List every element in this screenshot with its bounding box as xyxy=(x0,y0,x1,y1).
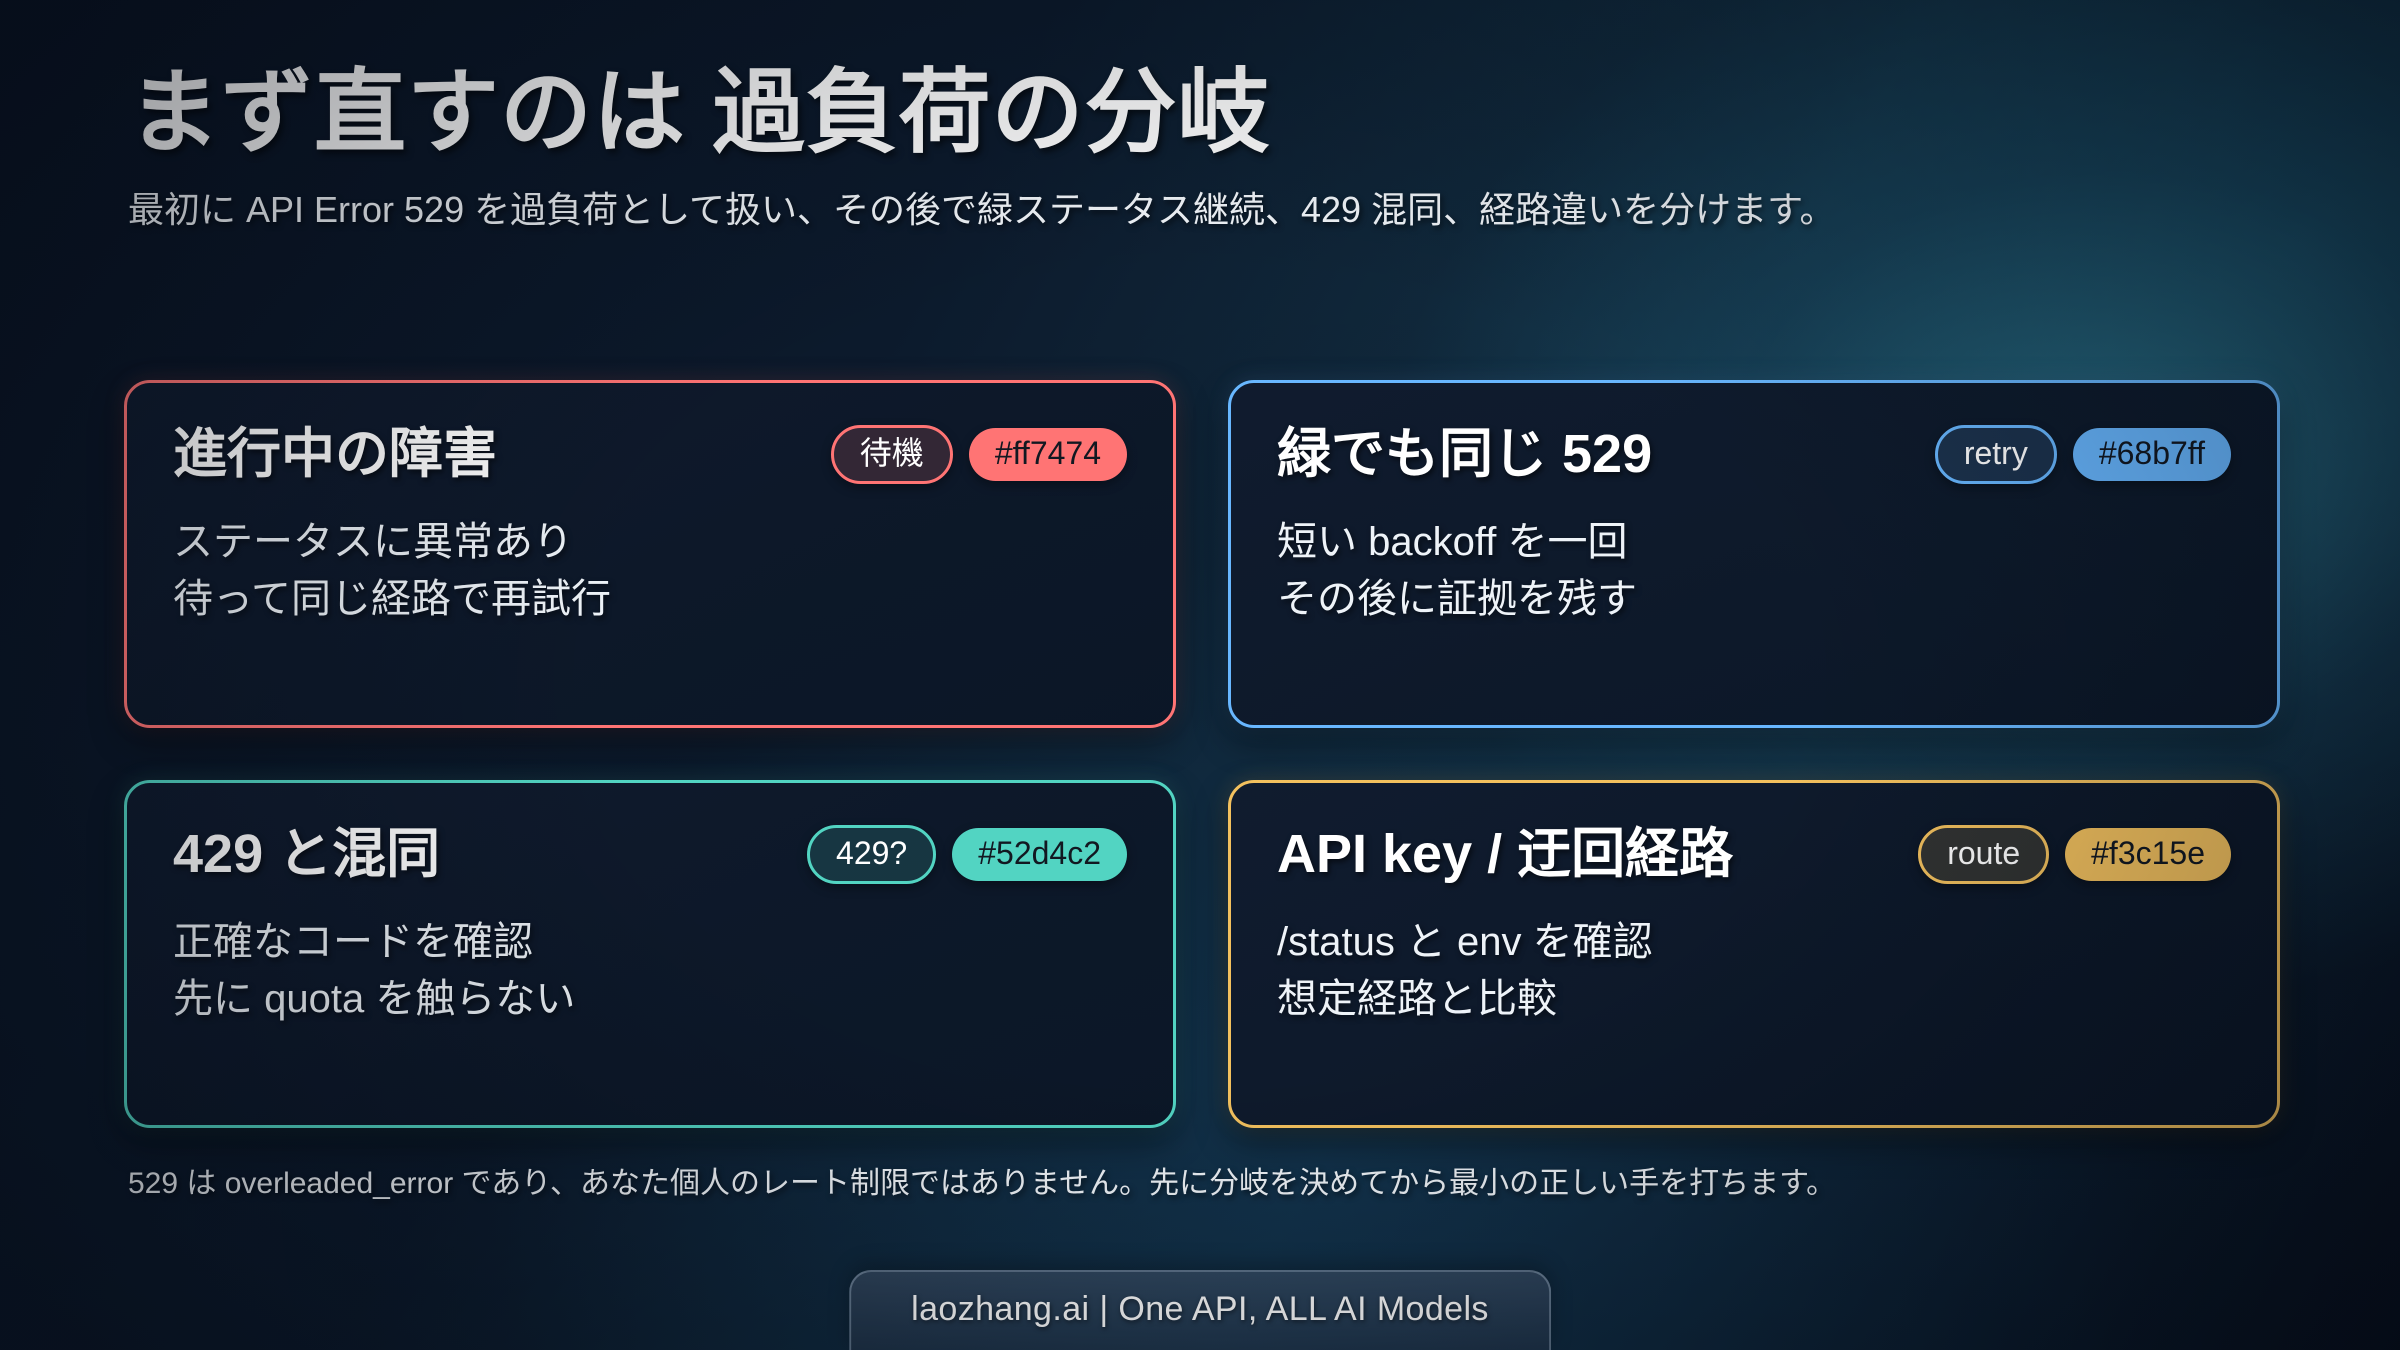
card-grid: 進行中の障害 待機 #ff7474 ステータスに異常あり 待って同じ経路で再試行… xyxy=(124,380,2280,1128)
color-hex-badge[interactable]: #f3c15e xyxy=(2065,828,2231,881)
card-body: ステータスに異常あり 待って同じ経路で再試行 xyxy=(173,514,1127,628)
card-ongoing-incident[interactable]: 進行中の障害 待機 #ff7474 ステータスに異常あり 待って同じ経路で再試行 xyxy=(124,380,1176,728)
status-badge[interactable]: retry xyxy=(1935,425,2057,484)
card-badges: route #f3c15e xyxy=(1918,825,2231,884)
card-green-status-529[interactable]: 緑でも同じ 529 retry #68b7ff 短い backoff を一回 そ… xyxy=(1228,380,2280,728)
card-body-line-1: ステータスに異常あり xyxy=(173,514,1127,571)
color-hex-badge[interactable]: #52d4c2 xyxy=(952,828,1127,881)
card-body-line-1: /status と env を確認 xyxy=(1277,914,2231,971)
card-title: API key / 迂回経路 xyxy=(1277,825,1733,884)
card-body-line-1: 正確なコードを確認 xyxy=(173,914,1127,971)
card-badges: 待機 #ff7474 xyxy=(831,425,1127,484)
card-body: 短い backoff を一回 その後に証拠を残す xyxy=(1277,514,2231,628)
card-confused-with-429[interactable]: 429 と混同 429? #52d4c2 正確なコードを確認 先に quota … xyxy=(124,780,1176,1128)
card-body-line-2: 想定経路と比較 xyxy=(1277,971,2231,1028)
footnote: 529 は overleaded_error であり、あなた個人のレート制限では… xyxy=(128,1158,2308,1202)
card-body: 正確なコードを確認 先に quota を触らない xyxy=(173,914,1127,1028)
card-body-line-2: 待って同じ経路で再試行 xyxy=(173,571,1127,628)
page-subtitle: 最初に API Error 529 を過負荷として扱い、その後で緑ステータス継続… xyxy=(128,187,2308,232)
card-body: /status と env を確認 想定経路と比較 xyxy=(1277,914,2231,1028)
card-title: 緑でも同じ 529 xyxy=(1277,425,1652,484)
card-header: 429 と混同 429? #52d4c2 xyxy=(173,825,1127,884)
color-hex-badge[interactable]: #ff7474 xyxy=(969,428,1127,481)
card-badges: retry #68b7ff xyxy=(1935,425,2231,484)
card-header: API key / 迂回経路 route #f3c15e xyxy=(1277,825,2231,884)
card-badges: 429? #52d4c2 xyxy=(807,825,1127,884)
card-header: 進行中の障害 待機 #ff7474 xyxy=(173,425,1127,484)
card-api-key-route[interactable]: API key / 迂回経路 route #f3c15e /status と e… xyxy=(1228,780,2280,1128)
status-badge[interactable]: 429? xyxy=(807,825,936,884)
card-title: 進行中の障害 xyxy=(173,425,497,484)
slide-header: まず直すのは 過負荷の分岐 最初に API Error 529 を過負荷として扱… xyxy=(128,62,2308,232)
color-hex-badge[interactable]: #68b7ff xyxy=(2073,428,2231,481)
status-badge[interactable]: 待機 xyxy=(831,425,953,484)
brand-bar: laozhang.ai | One API, ALL AI Models xyxy=(849,1270,1551,1350)
page-title: まず直すのは 過負荷の分岐 xyxy=(128,62,2308,165)
status-badge[interactable]: route xyxy=(1918,825,2049,884)
card-header: 緑でも同じ 529 retry #68b7ff xyxy=(1277,425,2231,484)
card-body-line-2: 先に quota を触らない xyxy=(173,971,1127,1028)
card-body-line-1: 短い backoff を一回 xyxy=(1277,514,2231,571)
card-title: 429 と混同 xyxy=(173,825,440,884)
card-body-line-2: その後に証拠を残す xyxy=(1277,571,2231,628)
slide-canvas: まず直すのは 過負荷の分岐 最初に API Error 529 を過負荷として扱… xyxy=(0,0,2400,1350)
